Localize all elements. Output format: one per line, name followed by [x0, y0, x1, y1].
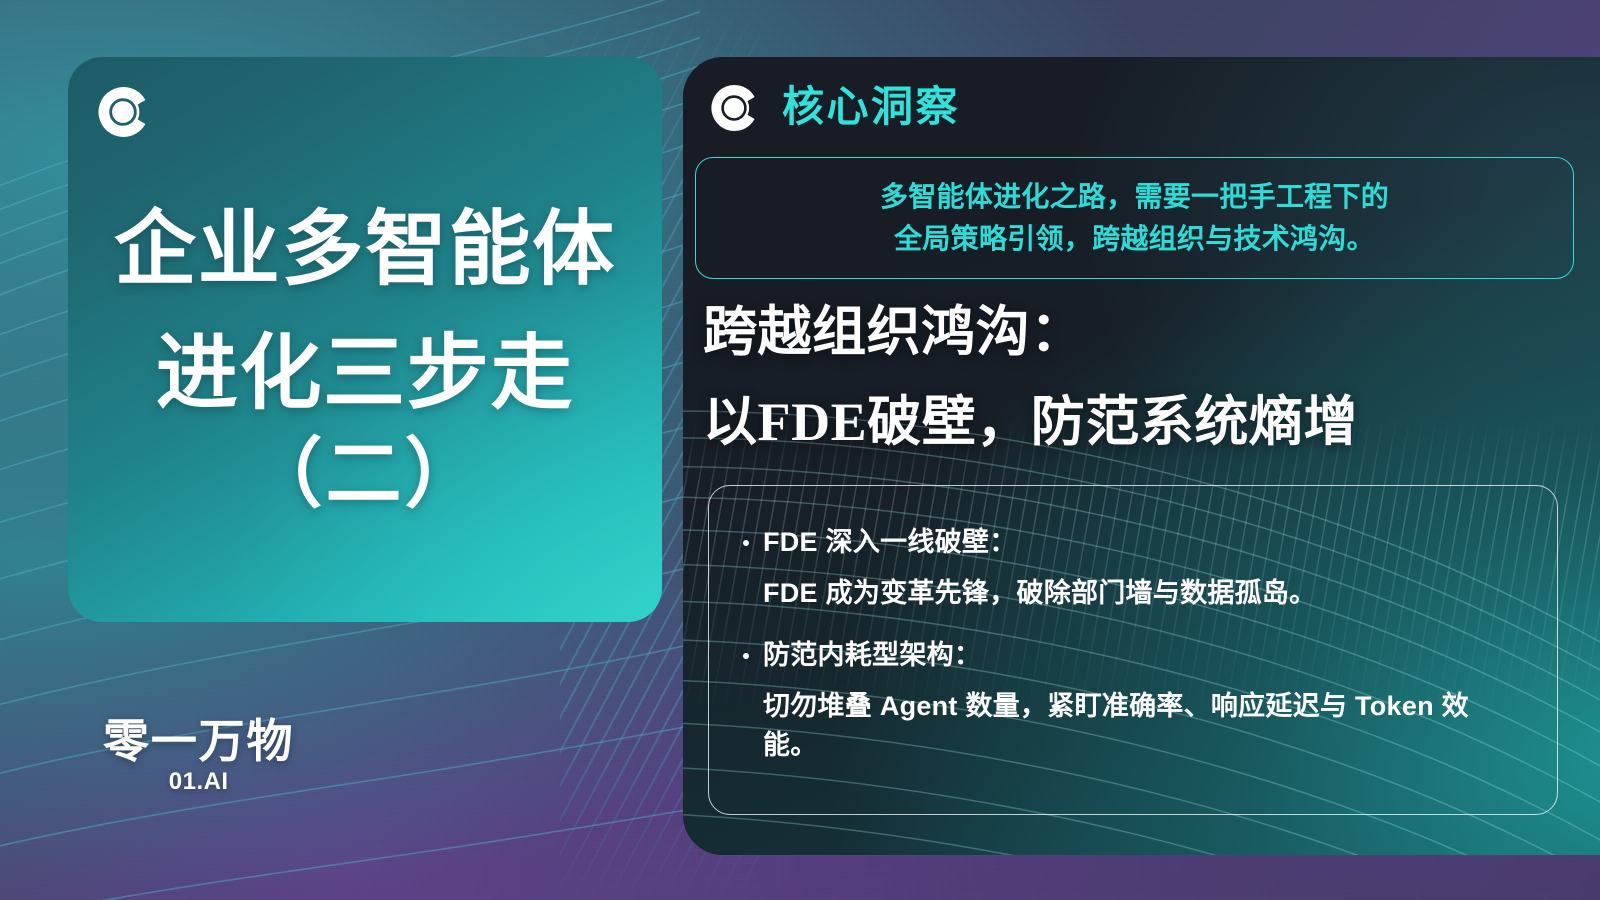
brand-name-en: 01.AI [103, 770, 294, 794]
circle-c-logo-icon [710, 84, 758, 132]
bullet-body: 切勿堆叠 Agent 数量，紧盯准确率、响应延迟与 Token 效能。 [763, 687, 1523, 765]
brand-name-cn: 零一万物 [103, 718, 294, 764]
list-item: 防范内耗型架构： 切勿堆叠 Agent 数量，紧盯准确率、响应延迟与 Token… [743, 639, 1523, 765]
panel-title: 核心洞察 [782, 87, 960, 129]
callout-line-1: 多智能体进化之路，需要一把手工程下的 [880, 176, 1389, 218]
brand-lockup: 零一万物 01.AI [103, 718, 294, 794]
hero-card: 企业多智能体 进化三步走 （二） [68, 57, 662, 622]
section-heading-1: 跨越组织鸿沟： [703, 305, 1600, 359]
section-headings: 跨越组织鸿沟： 以FDE破壁，防范系统熵增 [703, 305, 1600, 449]
slide-canvas: 企业多智能体 进化三步走 （二） 零一万物 01.AI [0, 0, 1600, 900]
circle-c-logo-icon [97, 86, 149, 138]
panel-header: 核心洞察 [710, 84, 960, 132]
bullet-body: FDE 成为变革先锋，破除部门墙与数据孤岛。 [763, 574, 1523, 613]
section-heading-2: 以FDE破壁，防范系统熵增 [703, 395, 1600, 449]
key-insight-callout: 多智能体进化之路，需要一把手工程下的 全局策略引领，跨越组织与技术鸿沟。 [695, 157, 1574, 279]
hero-title-line-2: 进化三步走 [68, 333, 662, 415]
bullet-title: 防范内耗型架构： [763, 639, 981, 673]
bullet-dot-icon [743, 653, 749, 659]
hero-title-line-1: 企业多智能体 [68, 209, 662, 291]
callout-line-2: 全局策略引领，跨越组织与技术鸿沟。 [880, 218, 1389, 260]
hero-title: 企业多智能体 进化三步走 （二） [68, 209, 662, 513]
hero-title-line-3: （二） [68, 437, 662, 513]
bullet-list-box: FDE 深入一线破壁： FDE 成为变革先锋，破除部门墙与数据孤岛。 防范内耗型… [708, 485, 1558, 815]
list-item: FDE 深入一线破壁： FDE 成为变革先锋，破除部门墙与数据孤岛。 [743, 526, 1523, 613]
bullet-dot-icon [743, 540, 749, 546]
insight-panel: 核心洞察 多智能体进化之路，需要一把手工程下的 全局策略引领，跨越组织与技术鸿沟… [683, 57, 1600, 855]
bullet-title: FDE 深入一线破壁： [763, 526, 1016, 560]
